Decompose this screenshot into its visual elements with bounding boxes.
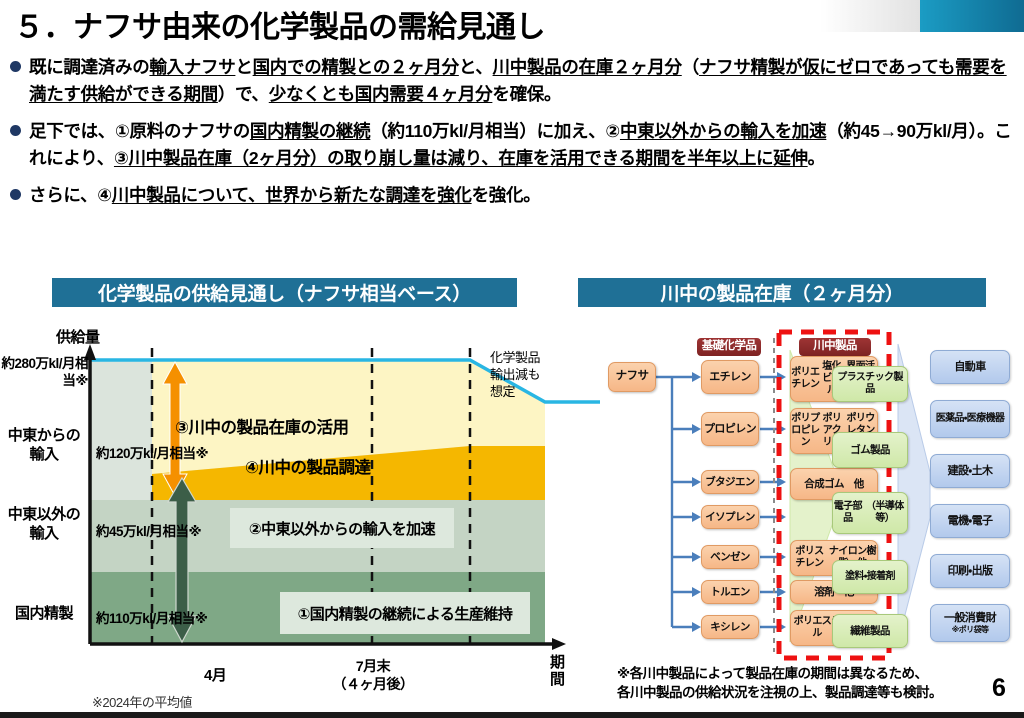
node-xylene[interactable]: キシレン [701,615,759,639]
bullet-segment: （ [682,57,699,77]
node-consumer-goods[interactable]: 一般消費財※ポリ袋等 [930,604,1010,642]
node-paint-adhesive[interactable]: 塗料・接着剤 [832,560,908,594]
x-axis-tick-april: 4月 [204,664,226,685]
text-line: ポリスチレン [791,546,828,570]
text-line: ポリプロピレン [791,413,820,448]
band-value-non-middle-east: 約45万kl/月相当※ [96,520,201,540]
bullet-text-3: さらに、④川中製品について、世界から新たな調達を強化を強化。 [29,182,540,209]
annotation-stock-usage: ③川中の製品在庫の活用 [175,414,348,438]
bullet-segment: 中東以外からの輸入を加速 [620,121,826,141]
text-line: 各川中製品の供給状況を注視の上、製品調達等も検討。 [617,685,942,700]
text-line: （半導体等） [863,501,907,525]
bullet-segment: を強化。 [472,185,541,205]
column-caption-midstream: 川中製品 [799,338,871,356]
slide-root: ５．ナフサ由来の化学製品の需給見通し 既に調達済みの輸入ナフサと国内での精製との… [0,0,1024,718]
bullet-segment: さらに、④ [29,185,112,205]
x-axis-tick-july: 7月末 （４ヶ月後） [318,658,428,693]
bullet-segment: と、 [459,57,493,77]
bullet-item-2: 足下では、①原料のナフサの国内精製の継続（約110万kl/月相当）に加え、②中東… [10,118,1016,171]
section-header-right: 川中の製品在庫（２ヶ月分） [578,278,986,307]
band-label-domestic: 国内精製 [2,602,86,623]
node-toluene[interactable]: トルエン [701,580,759,604]
bullet-segment: 。 [808,148,825,168]
page-title: ５．ナフサ由来の化学製品の需給見通し [14,2,814,46]
node-butadiene[interactable]: ブタジエン [701,470,759,494]
bullet-segment: と [235,57,252,77]
section-header-left: 化学製品の供給見通し（ナフサ相当ベース） [52,278,517,307]
node-printing-publishing[interactable]: 印刷・出版 [930,554,1010,588]
annotation-domestic-refining: ①国内精製の継続による生産維持 [280,592,530,634]
bullet-segment: を確保。 [492,84,561,104]
text-line: 化学製品 [490,350,540,365]
text-line: ポリエチレン [791,367,820,391]
y-axis-title: 供給量 [56,326,100,347]
node-propylene[interactable]: プロピレン [701,412,759,446]
bullet-segment: 川中製品の在庫２ヶ月分 [493,57,682,77]
annotation-procurement: ④川中の製品調達 [245,454,370,478]
header-decoration [820,0,1024,32]
y-axis-tick-total: 約280万kl/月相当※ [0,356,88,390]
bullet-segment: 輸入ナフサ [149,57,235,77]
text-line: 想定 [490,384,515,399]
text-line: 機器 [986,413,1005,425]
bullet-segment: （約110万kl/月相当）に加え、② [370,121,620,141]
bullet-dot-icon [10,125,21,136]
bullet-list: 既に調達済みの輸入ナフサと国内での精製との２ヶ月分と、川中製品の在庫２ヶ月分（ナ… [10,54,1016,220]
annotation-import-acceleration: ②中東以外からの輸入を加速 [230,508,454,548]
value-chain-diagram: 基礎化学品 川中製品 ナフサ エチレン プロピレン ブタジエン イソプレン ベン… [600,322,1024,718]
text-line: 合成ゴム 他 [804,478,863,490]
node-automotive[interactable]: 自動車 [930,350,1010,384]
bullet-segment: 少なくとも国内需要４ヶ月分 [269,84,493,104]
x-axis-title: 期間 [550,654,566,689]
bullet-segment: ）で、 [218,84,269,104]
node-textile-products[interactable]: 繊維製品 [832,614,908,648]
bullet-segment: 足下では、①原料のナフサの [29,121,250,141]
decoration-blue-band [920,0,1024,32]
node-electrical-electronics[interactable]: 電機・電子 [930,504,1010,538]
node-isoprene[interactable]: イソプレン [701,505,759,529]
text-line: 電子部品 [833,501,863,525]
chart-footnote: ※2024年の平均値 [92,692,192,711]
bullet-text-2: 足下では、①原料のナフサの国内精製の継続（約110万kl/月相当）に加え、②中東… [29,118,1016,171]
node-plastic-products[interactable]: プラスチック製品 [832,366,908,402]
bottom-bar [0,712,1024,718]
band-value-middle-east: 約120万kl/月相当※ [96,442,208,462]
text-line: ※各川中製品によって製品在庫の期間は異なるため、 [617,666,928,681]
bullet-item-1: 既に調達済みの輸入ナフサと国内での精製との２ヶ月分と、川中製品の在庫２ヶ月分（ナ… [10,54,1016,107]
bullet-segment: 既に調達済みの [29,57,149,77]
band-label-middle-east: 中東からの輸入 [2,426,86,464]
bullet-segment: 国内での精製との２ヶ月分 [253,57,459,77]
node-pharma-medical[interactable]: 医薬品・医療機器 [930,400,1010,438]
band-label-non-middle-east: 中東以外の輸入 [2,505,86,543]
node-construction-civil[interactable]: 建設・土木 [930,454,1010,488]
node-naphtha[interactable]: ナフサ [608,362,656,392]
bullet-segment: 川中製品について、世界から新たな調達を強化 [112,185,472,205]
text-line: 輸出減も [490,367,540,382]
x-axis-arrowhead [552,638,566,650]
node-ethylene[interactable]: エチレン [701,360,759,394]
bullet-text-1: 既に調達済みの輸入ナフサと国内での精製との２ヶ月分と、川中製品の在庫２ヶ月分（ナ… [29,54,1016,107]
bullet-segment: 国内精製の継続 [250,121,370,141]
bullet-dot-icon [10,189,21,200]
bullet-item-3: さらに、④川中製品について、世界から新たな調達を強化を強化。 [10,182,1016,209]
bullet-segment: ③川中製品在庫（2ヶ月分）の取り崩し量は減り、在庫を活用できる期間を半年以上に延… [114,148,808,168]
node-sublabel: ※ポリ袋等 [952,625,989,634]
node-benzene[interactable]: ベンゼン [701,545,759,569]
annotation-export-decrease: 化学製品輸出減も想定 [490,350,540,401]
text-line: 医薬品・医療 [936,413,986,425]
link-branch-arrowheads [692,372,701,632]
node-rubber-products[interactable]: ゴム製品 [832,432,908,468]
node-electronic-parts[interactable]: 電子部品（半導体等） [832,492,908,534]
bullet-dot-icon [10,61,21,72]
diagram-footnote: ※各川中製品によって製品在庫の期間は異なるため、各川中製品の供給状況を注視の上、… [617,665,942,702]
page-number: 6 [992,674,1006,703]
supply-forecast-chart: 供給量 約280万kl/月相当※ 中東からの輸入 中東以外の輸入 国内精製 約1… [0,322,600,718]
decoration-grey-band [820,0,920,32]
band-value-domestic: 約110万kl/月相当※ [96,607,207,627]
column-caption-basic: 基礎化学品 [697,338,761,356]
